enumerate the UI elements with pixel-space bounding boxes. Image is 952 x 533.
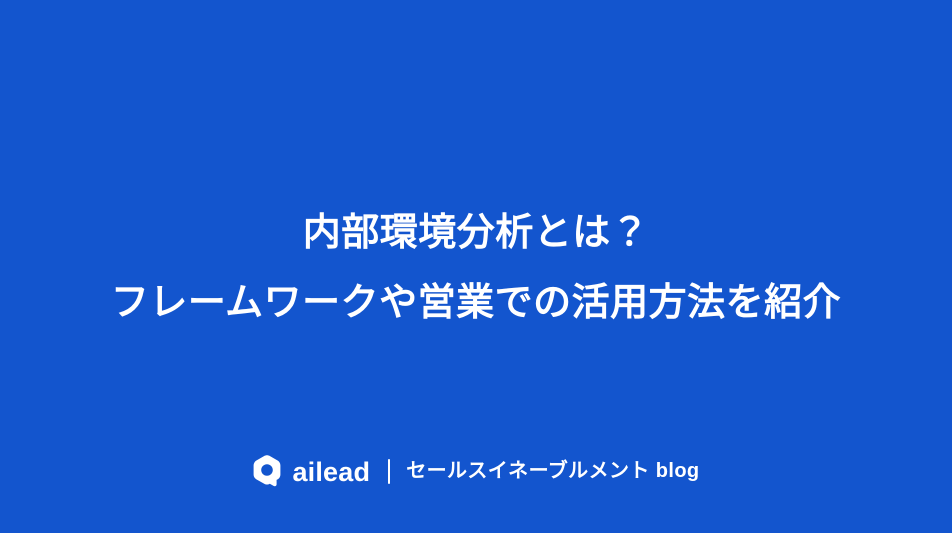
page-title: 内部環境分析とは？ フレームワークや営業での活用方法を紹介	[0, 198, 952, 338]
brand-lockup: ailead セールスイネーブルメント blog	[0, 455, 952, 487]
title-line-2: フレームワークや営業での活用方法を紹介	[0, 268, 952, 338]
ailead-hexagon-logo-icon	[252, 455, 282, 487]
brand-divider	[388, 459, 390, 484]
title-slide: 内部環境分析とは？ フレームワークや営業での活用方法を紹介 ailead セール…	[0, 0, 952, 533]
brand-tagline: セールスイネーブルメント blog	[406, 461, 699, 481]
brand-wordmark: ailead	[292, 459, 370, 486]
title-line-1: 内部環境分析とは？	[0, 198, 952, 268]
